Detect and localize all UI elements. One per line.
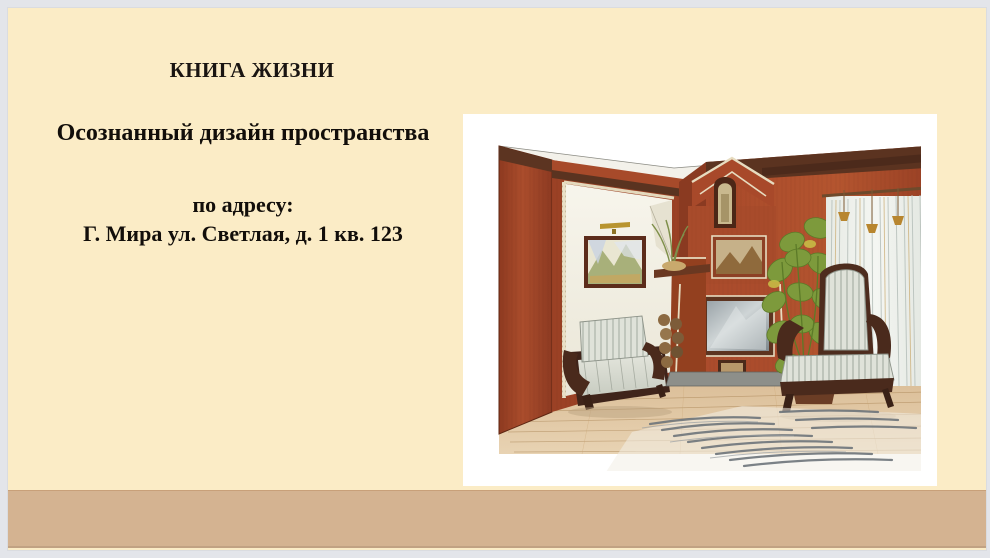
slide-subtitle: Осознанный дизайн пространства	[8, 119, 478, 148]
page-root: КНИГА ЖИЗНИ Осознанный дизайн пространст…	[0, 0, 990, 558]
interior-room-sketch	[474, 124, 926, 476]
wall-picture-frame	[584, 236, 646, 288]
illustration-card	[463, 114, 937, 486]
address-block: по адресу: Г. Мира ул. Светлая, д. 1 кв.…	[8, 190, 478, 248]
address-label: по адресу:	[8, 190, 478, 219]
page-title: КНИГА ЖИЗНИ	[26, 58, 478, 83]
address-value: Г. Мира ул. Светлая, д. 1 кв. 123	[8, 219, 478, 248]
interior-room-illustration	[474, 124, 926, 476]
slide-footer-bar	[8, 490, 986, 548]
presentation-slide: КНИГА ЖИЗНИ Осознанный дизайн пространст…	[8, 8, 986, 550]
slide-text-block: КНИГА ЖИЗНИ Осознанный дизайн пространст…	[8, 58, 478, 248]
